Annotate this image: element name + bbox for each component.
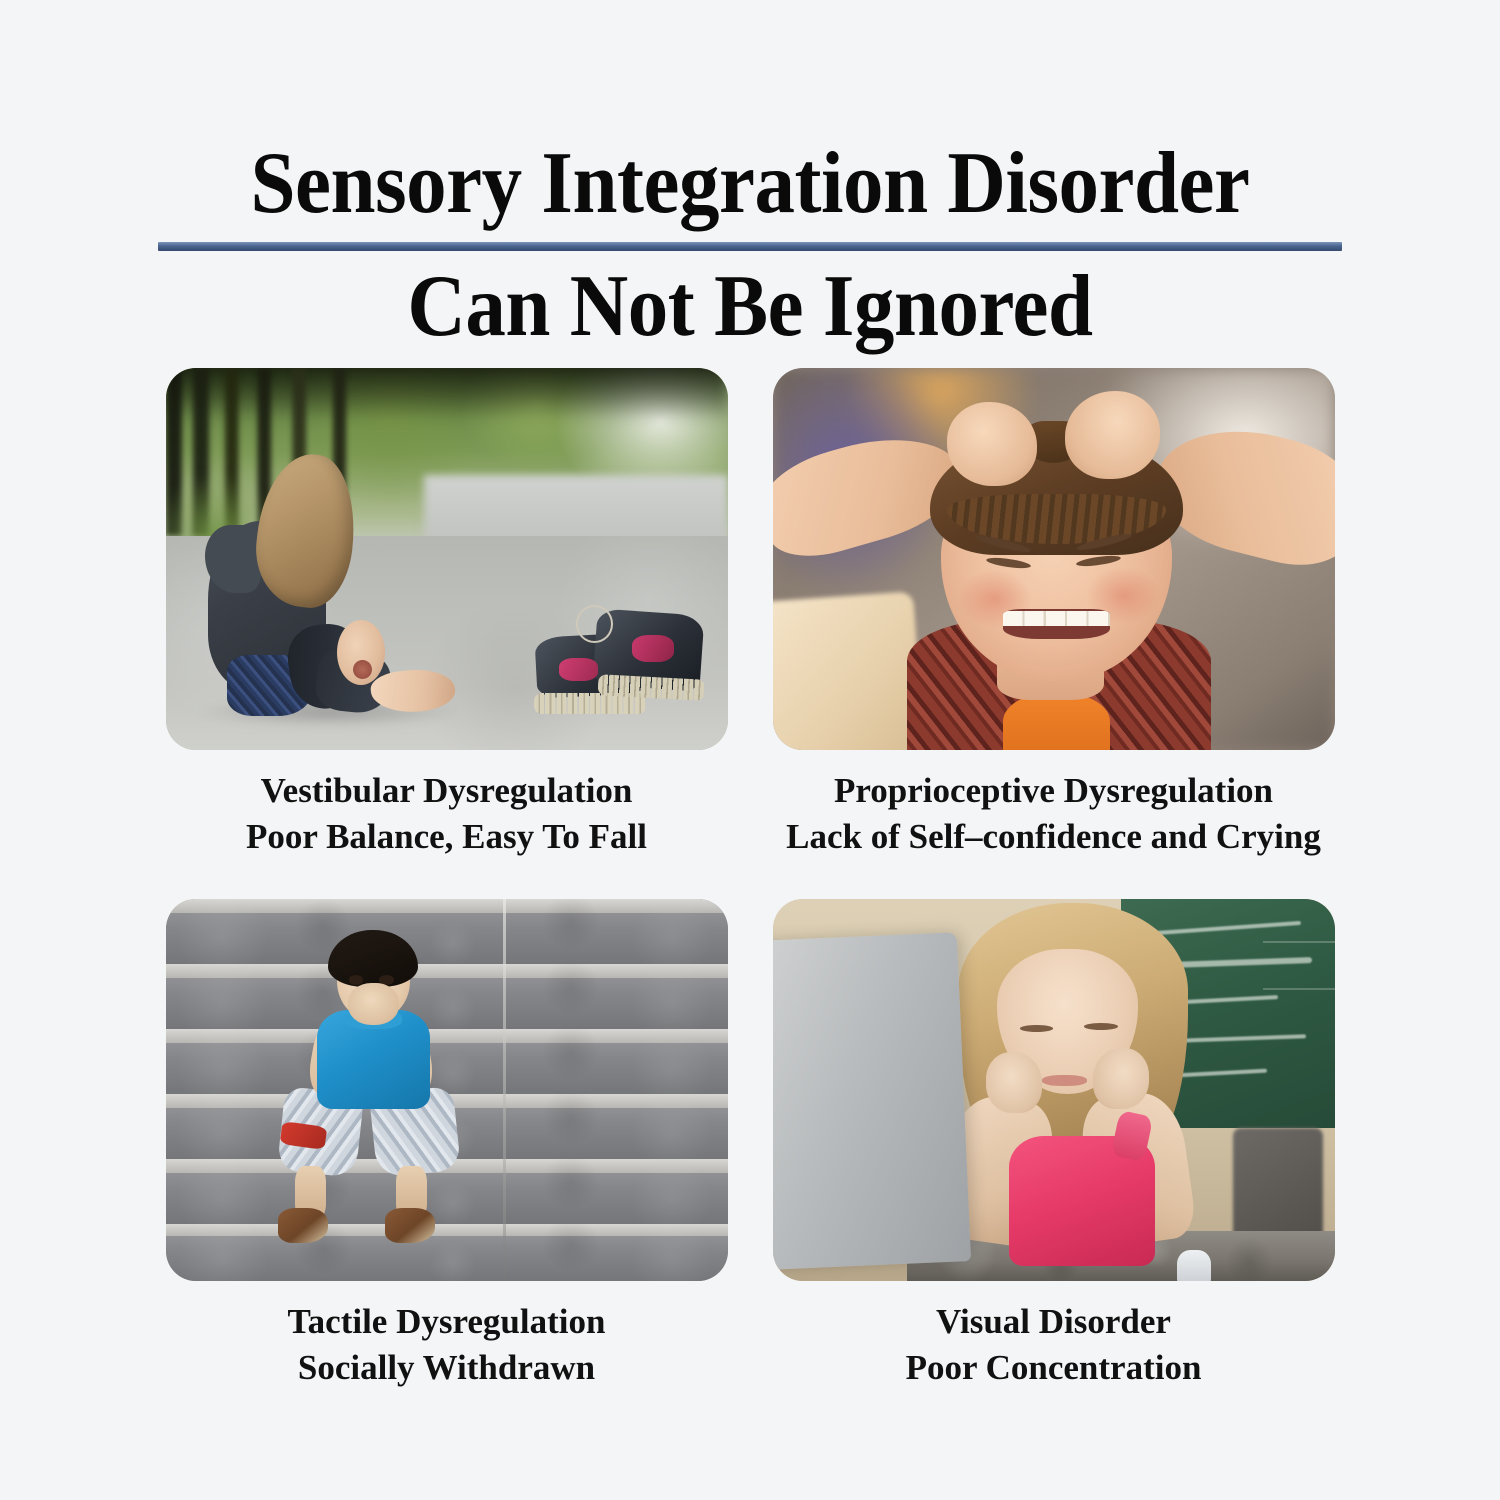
- caption-visual: Visual Disorder Poor Concentration: [773, 1299, 1335, 1390]
- stone-staircase: [166, 899, 728, 1281]
- boy-hands-at-mouth: [348, 983, 399, 1025]
- knee-scrape: [353, 660, 372, 679]
- skate-pink-accent-left: [559, 658, 598, 681]
- caption-title: Tactile Dysregulation: [166, 1299, 728, 1345]
- girl-hand-right: [1093, 1048, 1149, 1109]
- caption-subtitle: Lack of Self–confidence and Crying: [773, 814, 1335, 860]
- chalkboard-rule: [1263, 941, 1335, 943]
- card-row-2: Tactile Dysregulation Socially Withdrawn: [0, 899, 1500, 1390]
- symptom-card-proprioceptive: Proprioceptive Dysregulation Lack of Sel…: [773, 368, 1335, 859]
- child-fist-right: [1065, 391, 1161, 479]
- photo-visual: [773, 899, 1335, 1281]
- boy-sandal-left: [278, 1208, 329, 1242]
- title-divider-rule: [158, 242, 1342, 251]
- child-teeth: [1003, 611, 1110, 626]
- caption-vestibular: Vestibular Dysregulation Poor Balance, E…: [166, 768, 728, 859]
- chalkboard-rule: [1263, 988, 1335, 990]
- boy-sandal-right: [385, 1208, 436, 1242]
- step-tread: [166, 1224, 728, 1281]
- girl-lips: [1042, 1075, 1087, 1086]
- caption-subtitle: Poor Concentration: [773, 1345, 1335, 1391]
- step-tread: [166, 899, 728, 964]
- laptop-screen-back: [773, 932, 971, 1270]
- child-orange-tshirt: [1003, 693, 1110, 750]
- caption-subtitle: Poor Balance, Easy To Fall: [166, 814, 728, 860]
- boy-eye-left: [349, 975, 364, 984]
- caption-subtitle: Socially Withdrawn: [166, 1345, 728, 1391]
- symptom-card-vestibular: Vestibular Dysregulation Poor Balance, E…: [166, 368, 728, 859]
- step-tread: [166, 964, 728, 1029]
- stone-seam: [503, 899, 506, 1281]
- symptom-card-tactile: Tactile Dysregulation Socially Withdrawn: [166, 899, 728, 1390]
- water-bottle: [1177, 1250, 1211, 1281]
- skate-pink-accent-right: [632, 635, 674, 662]
- caption-title: Visual Disorder: [773, 1299, 1335, 1345]
- infographic-poster: Sensory Integration Disorder Can Not Be …: [0, 0, 1500, 1500]
- photo-vestibular: [166, 368, 728, 750]
- caption-title: Vestibular Dysregulation: [166, 768, 728, 814]
- caption-proprioceptive: Proprioceptive Dysregulation Lack of Sel…: [773, 768, 1335, 859]
- blurred-foreground-object: [773, 592, 925, 750]
- classroom-chair: [1233, 1128, 1323, 1243]
- photo-proprioceptive: [773, 368, 1335, 750]
- caption-title: Proprioceptive Dysregulation: [773, 768, 1335, 814]
- symptom-card-grid: Vestibular Dysregulation Poor Balance, E…: [0, 368, 1500, 1390]
- photo-tactile: [166, 899, 728, 1281]
- symptom-card-visual: Visual Disorder Poor Concentration: [773, 899, 1335, 1390]
- girl-hand-left: [986, 1052, 1042, 1113]
- caption-tactile: Tactile Dysregulation Socially Withdrawn: [166, 1299, 728, 1390]
- girl-eye-right: [1084, 1023, 1118, 1030]
- step-tread: [166, 1029, 728, 1094]
- poster-title-line-1: Sensory Integration Disorder: [60, 0, 1440, 228]
- card-row-1: Vestibular Dysregulation Poor Balance, E…: [0, 368, 1500, 859]
- girl-eye-left: [1020, 1025, 1054, 1032]
- poster-title-line-2: Can Not Be Ignored: [60, 251, 1440, 351]
- child-fist-left: [947, 402, 1037, 486]
- child-mouth: [1003, 609, 1110, 640]
- poster-header: Sensory Integration Disorder Can Not Be …: [0, 0, 1500, 351]
